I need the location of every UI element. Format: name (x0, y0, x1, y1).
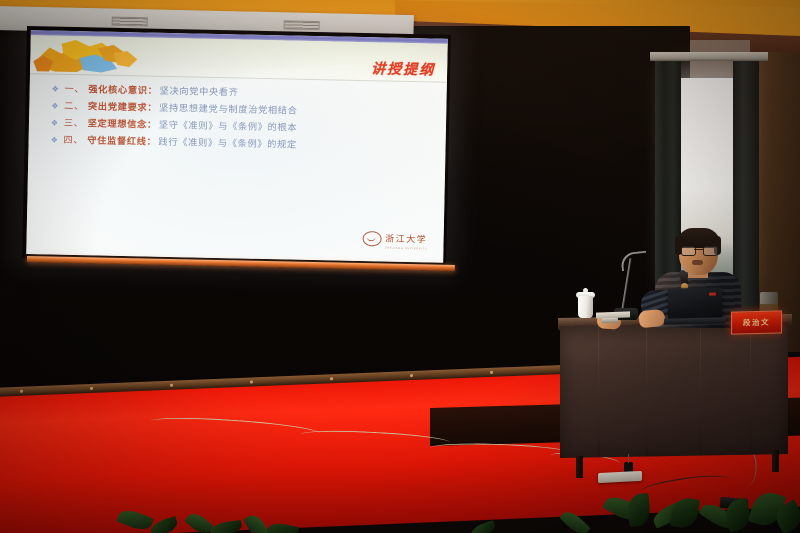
item-number: 一、 (64, 80, 84, 94)
item-detail: 坚守《准则》与《条例》的根本 (159, 116, 298, 133)
lens-left (681, 246, 696, 256)
glasses-icon (681, 246, 716, 254)
university-name-cn: 浙江大学 (385, 235, 427, 246)
baseboard-stud (20, 390, 23, 393)
skirt-fold (646, 324, 647, 456)
slide-outline-list: ❖ 一、 强化核心意识： 坚决向党中央看齐 ❖ 二、 突出党建要求： 坚持思想建… (28, 78, 446, 155)
item-detail: 坚决向党中央看齐 (159, 82, 238, 98)
skirt-fold (700, 324, 701, 456)
presenter-table-skirt (560, 322, 788, 458)
lens-right (703, 246, 718, 256)
table-leg (772, 450, 779, 472)
slide-title: 讲授提纲 (371, 58, 435, 79)
vent-icon (112, 17, 148, 27)
item-detail: 坚持思想建党与制度治党相结合 (159, 99, 298, 116)
university-crest-icon (362, 231, 381, 246)
diamond-bullet-icon: ❖ (51, 118, 59, 127)
puzzle-pieces-graphic (33, 37, 142, 75)
baseboard-stud (170, 384, 173, 387)
item-number: 三、 (64, 114, 84, 128)
baseboard-stud (90, 387, 93, 390)
screen-surface: 讲授提纲 ❖ 一、 强化核心意识： 坚决向党中央看齐 ❖ 二、 突出党建要求： … (26, 30, 448, 263)
baseboard-stud (250, 380, 253, 383)
diamond-bullet-icon: ❖ (52, 84, 60, 93)
nameplate-text: 段治文 (743, 317, 770, 329)
projection-screen: 讲授提纲 ❖ 一、 强化核心意识： 坚决向党中央看齐 ❖ 二、 突出党建要求： … (22, 26, 451, 267)
item-key: 突出党建要求： (88, 98, 157, 113)
item-number: 四、 (63, 131, 83, 145)
lecture-hall-photo: 讲授提纲 ❖ 一、 强化核心意识： 坚决向党中央看齐 ❖ 二、 突出党建要求： … (0, 0, 800, 533)
skirt-fold (750, 323, 751, 455)
item-key: 守住监督红线： (87, 132, 156, 147)
item-number: 二、 (64, 97, 84, 111)
table-leg (576, 456, 583, 478)
curtain-rod (650, 52, 768, 61)
university-logo: 浙江大学 ZHEJIANG UNIVERSITY (362, 228, 428, 250)
item-detail: 践行《准则》与《条例》的规定 (158, 133, 297, 150)
item-key: 强化核心意识： (88, 81, 157, 96)
teacup (578, 296, 593, 318)
baseboard-stud (490, 371, 493, 374)
laptop-logo-icon (709, 292, 716, 295)
plant-leaf (469, 520, 498, 533)
presentation-slide: 讲授提纲 ❖ 一、 强化核心意识： 坚决向党中央看齐 ❖ 二、 突出党建要求： … (26, 30, 448, 263)
baseboard-stud (330, 377, 333, 380)
diamond-bullet-icon: ❖ (51, 101, 59, 110)
speaker-nameplate: 段治文 (731, 310, 782, 334)
diamond-bullet-icon: ❖ (51, 135, 59, 144)
slide-header: 讲授提纲 (30, 35, 448, 83)
baseboard-stud (410, 374, 413, 377)
skirt-fold (598, 325, 599, 457)
mobile-phone (602, 318, 618, 324)
university-name-en: ZHEJIANG UNIVERSITY (385, 247, 427, 251)
glasses-bridge (694, 249, 703, 250)
vent-icon (284, 20, 320, 30)
mouth (692, 260, 703, 265)
item-key: 坚定理想信念： (88, 115, 157, 130)
